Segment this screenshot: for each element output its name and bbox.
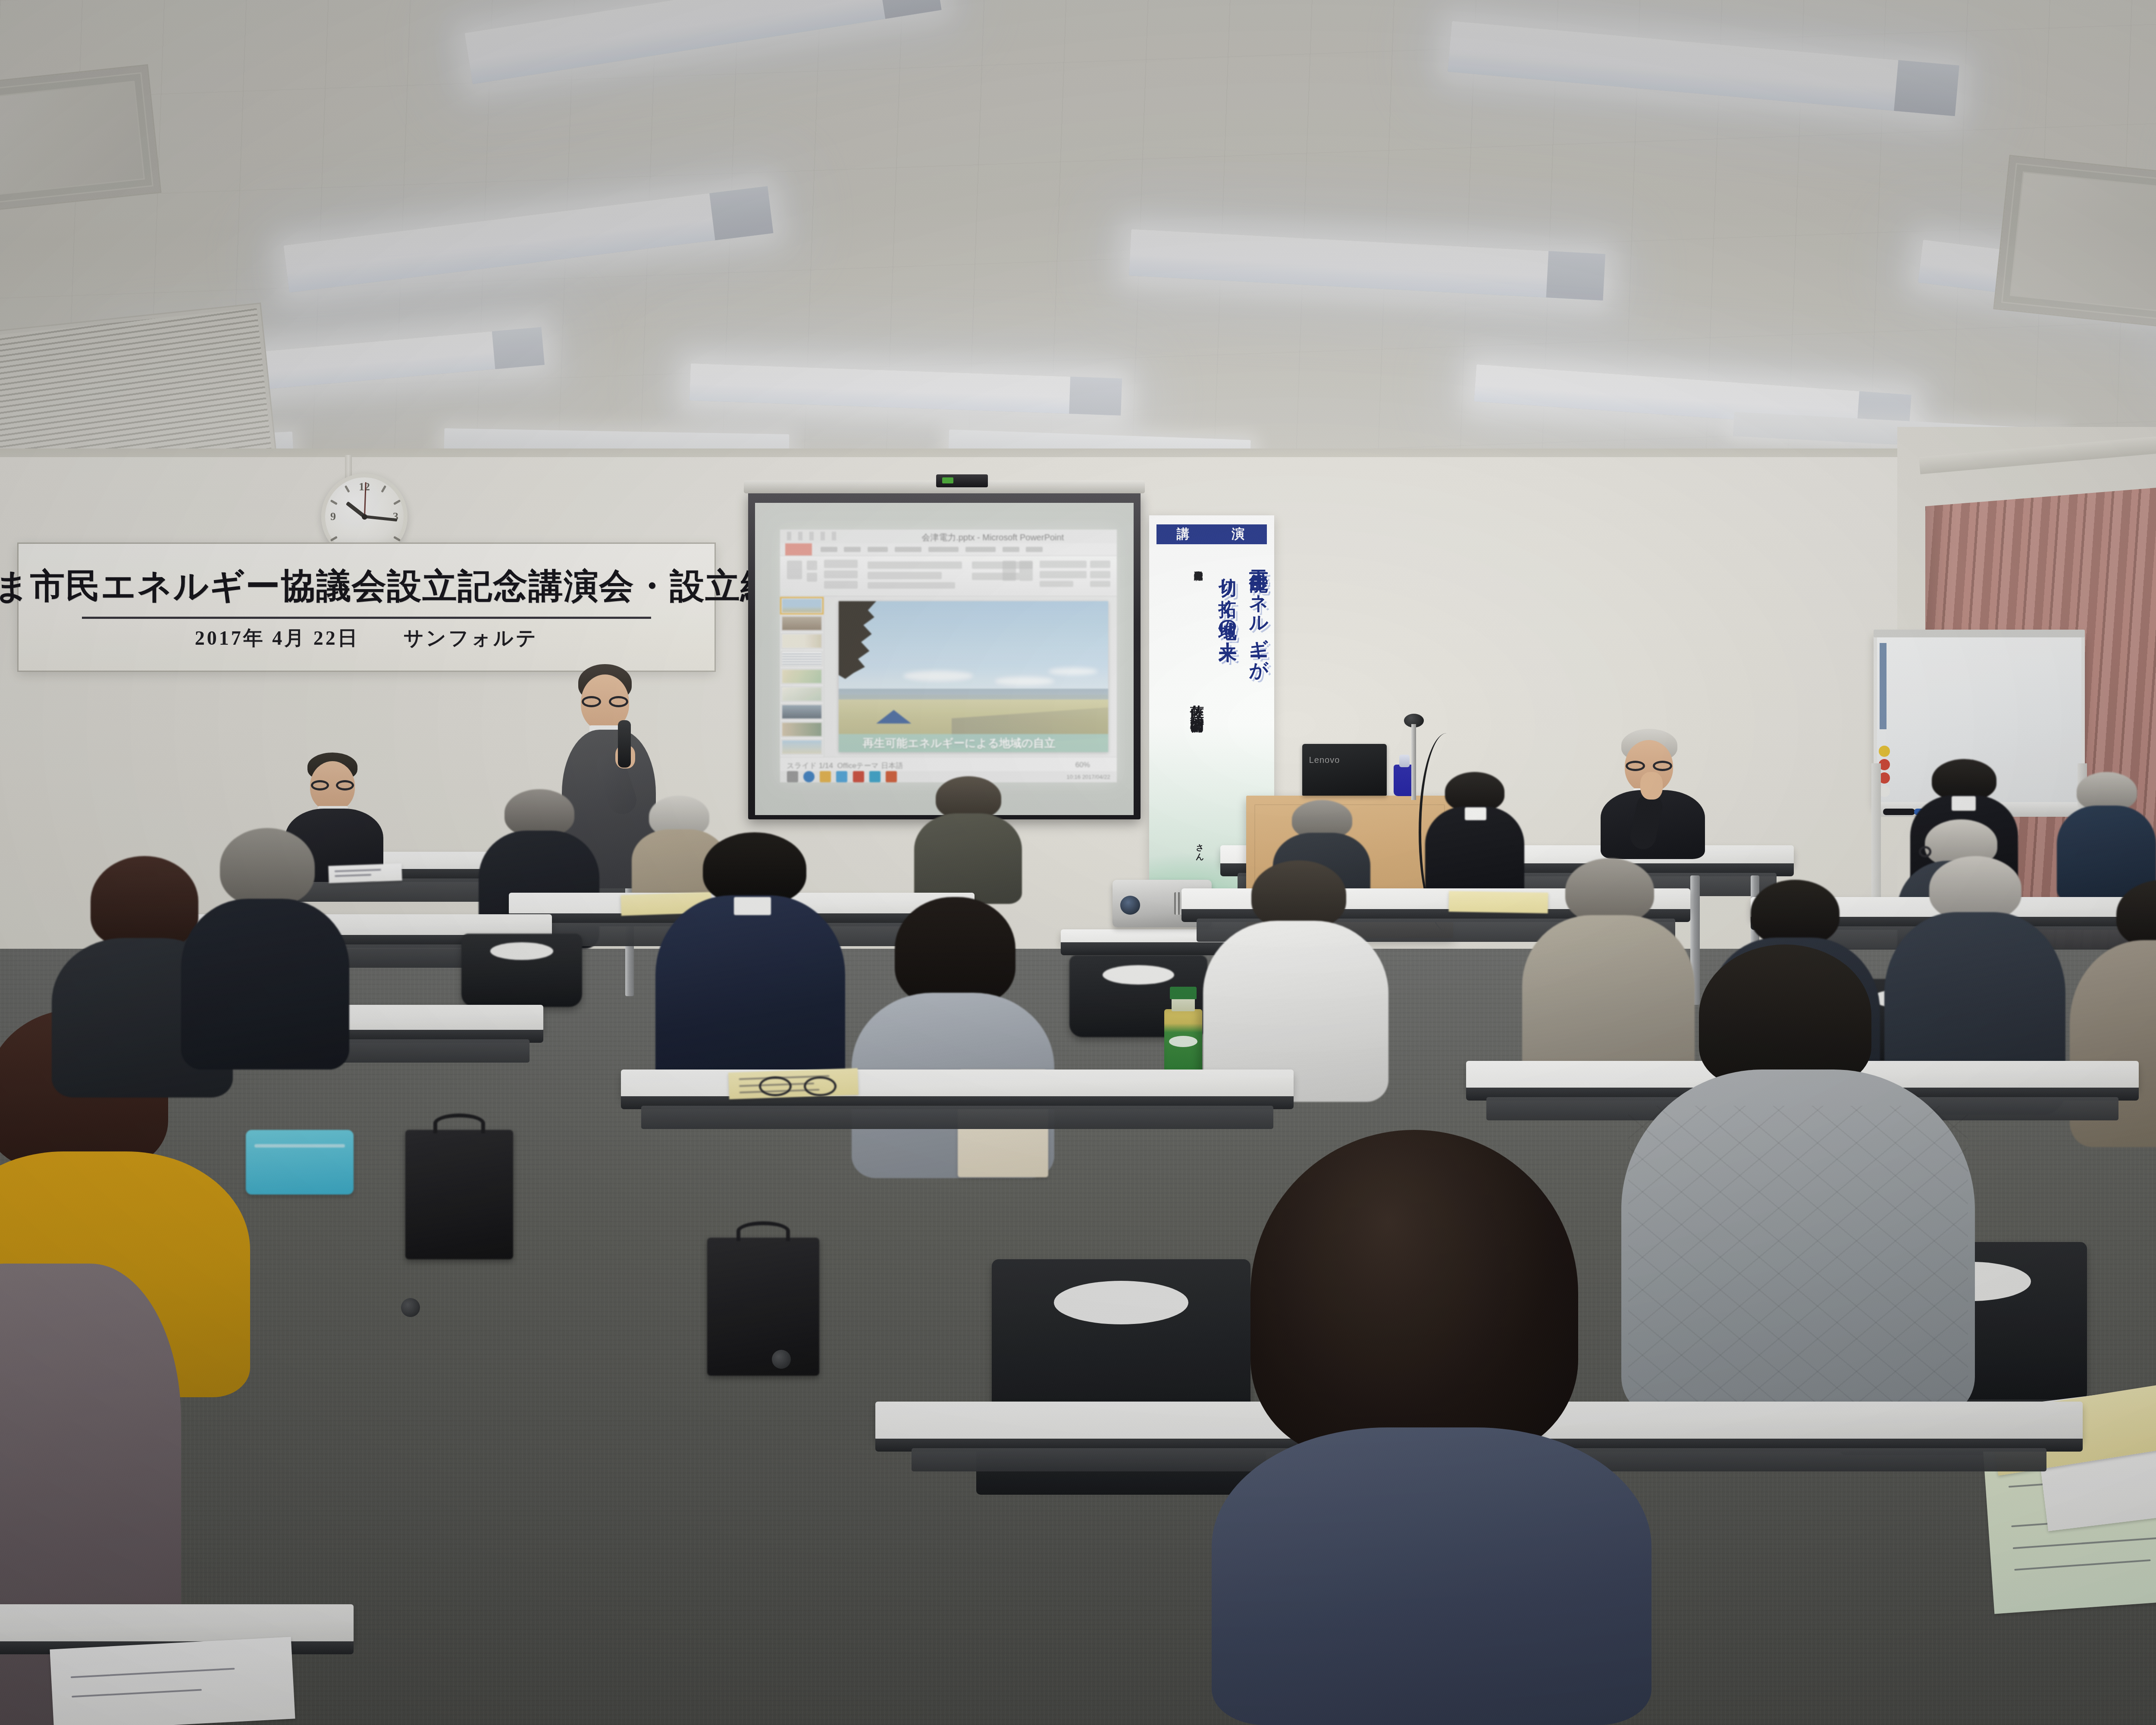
hair xyxy=(1929,856,2021,921)
attendee xyxy=(1203,860,1388,1102)
attendee-foreground-woman xyxy=(1212,1130,1651,1725)
ppt-thumbnail[interactable] xyxy=(781,598,822,613)
ppt-ribbon-tabs[interactable] xyxy=(780,543,1117,556)
projection-screen-frame: 会津電力.pptx - Microsoft PowerPoint xyxy=(748,492,1141,819)
hair xyxy=(1251,860,1346,929)
edge-icon[interactable] xyxy=(803,771,815,782)
chair-caster xyxy=(772,1350,791,1369)
ppt-slide-thumbnails[interactable] xyxy=(780,596,824,757)
eyeglasses xyxy=(1626,761,1672,771)
powerpoint-icon[interactable] xyxy=(886,771,897,782)
hair xyxy=(1445,772,1504,812)
hair xyxy=(703,832,806,905)
event-banner: とやま市民エネルギー協議会設立記念講演会・設立総会 2017年 4月 22日 サ… xyxy=(17,543,716,672)
poster-headline-2: 切り拓く地域の未来！ xyxy=(1218,565,1237,876)
laptop[interactable]: Lenovo xyxy=(1302,744,1387,796)
ppt-titlebar: 会津電力.pptx - Microsoft PowerPoint xyxy=(780,530,1117,543)
hair xyxy=(1932,759,1996,800)
ppt-thumbnail[interactable] xyxy=(781,722,822,737)
ppt-status-bar: スライド 1/14 Officeテーマ 日本語 60% xyxy=(780,757,1117,771)
ppt-thumbnail[interactable] xyxy=(781,740,822,755)
taskbar-clock: 10:16 2017/04/22 xyxy=(1067,774,1110,780)
laptop-brand-label: Lenovo xyxy=(1309,755,1340,765)
poster-header-char-2: 演 xyxy=(1232,525,1247,543)
eyeglasses xyxy=(311,780,354,790)
desk-row-front-left xyxy=(0,1604,354,1643)
hair xyxy=(936,776,1001,819)
torso xyxy=(1212,1427,1651,1725)
pdf-icon[interactable] xyxy=(853,771,864,782)
ppt-thumbnail[interactable] xyxy=(781,669,822,684)
ppt-status-zoom[interactable]: 60% xyxy=(1075,761,1090,769)
hair xyxy=(220,828,315,906)
banner-title: とやま市民エネルギー協議会設立記念講演会・設立総会 xyxy=(0,563,812,610)
hair xyxy=(2077,772,2137,811)
clock-minute-hand xyxy=(364,515,397,522)
poster-header-band: 講 演 xyxy=(1156,524,1266,544)
hair xyxy=(1751,880,1839,945)
handbag xyxy=(707,1238,819,1376)
desk-row-near-a xyxy=(621,1069,1294,1098)
poster-speaker-name: 佐藤 彌右衛門 xyxy=(1190,694,1204,708)
attendee xyxy=(655,832,845,1091)
hand xyxy=(1640,772,1663,800)
powerpoint-window: 会津電力.pptx - Microsoft PowerPoint xyxy=(780,530,1117,782)
torso xyxy=(655,895,845,1094)
ppt-status-slide: スライド 1/14 xyxy=(787,761,833,771)
hair xyxy=(1250,1130,1578,1458)
attendee-grey-quilted xyxy=(1621,944,1975,1419)
ppt-thumbnail[interactable] xyxy=(781,616,822,631)
hair xyxy=(505,789,574,837)
eyeglasses-on-desk xyxy=(759,1076,837,1096)
banner-date-venue: 2017年 4月 22日 サンフォルテ xyxy=(195,625,538,652)
ppt-status-theme: Officeテーマ xyxy=(837,761,879,771)
magnet[interactable] xyxy=(1879,746,1890,757)
store-icon[interactable] xyxy=(836,771,847,782)
slide-caption-bar: 再生可能エネルギーによる地域の自立 xyxy=(839,734,1108,752)
hair xyxy=(895,897,1015,1005)
screen-roller xyxy=(744,480,1145,493)
explorer-icon[interactable] xyxy=(820,771,831,782)
ppt-current-slide: 再生可能エネルギーによる地域の自立 xyxy=(839,601,1108,752)
ppt-status-lang: 日本語 xyxy=(881,761,903,771)
chair[interactable] xyxy=(461,934,582,1007)
torso xyxy=(914,813,1022,904)
shirt-collar xyxy=(734,897,771,915)
torso xyxy=(1425,806,1524,901)
hvac-diffuser xyxy=(1993,155,2156,328)
hair xyxy=(1699,944,1871,1087)
start-icon[interactable] xyxy=(787,771,798,782)
browser-icon[interactable] xyxy=(869,771,881,782)
ppt-thumbnail[interactable] xyxy=(781,687,822,702)
poster-header-char-1: 講 xyxy=(1176,525,1191,543)
ppt-editor-body: 再生可能エネルギーによる地域の自立 xyxy=(780,596,1117,757)
clock-number-12: 12 xyxy=(359,480,370,493)
attendee xyxy=(1425,772,1524,901)
torso xyxy=(181,899,349,1069)
hair xyxy=(1565,858,1654,923)
screen-sensor-icon xyxy=(936,474,988,487)
handbag xyxy=(405,1130,513,1259)
ppt-thumbnail[interactable] xyxy=(781,634,822,649)
shirt-collar xyxy=(1465,807,1486,820)
seminar-room-photo: 12 3 6 9 とやま市民エネルギー協議会設立記念講演会・設立総会 2017年… xyxy=(0,0,2156,1725)
quilt-pattern xyxy=(1628,1106,1968,1409)
attendee xyxy=(852,897,1054,1173)
ppt-ribbon[interactable] xyxy=(780,556,1117,596)
attendee xyxy=(914,776,1022,901)
ppt-thumbnail[interactable] xyxy=(781,704,822,719)
handout xyxy=(50,1637,295,1725)
eyeglasses xyxy=(582,696,628,707)
shirt-collar xyxy=(1952,796,1976,811)
hvac-diffuser xyxy=(0,64,162,212)
projection-screen-surface: 会津電力.pptx - Microsoft PowerPoint xyxy=(755,503,1134,815)
clock-number-9: 9 xyxy=(330,510,336,523)
chair-caster xyxy=(401,1298,420,1317)
attendee xyxy=(181,828,349,1069)
handheld-microphone xyxy=(618,720,631,768)
ppt-document-title: 会津電力.pptx - Microsoft PowerPoint xyxy=(921,532,1064,543)
ppt-thumbnail[interactable] xyxy=(781,651,822,666)
hair xyxy=(2116,880,2156,949)
seated-official-gray-hair xyxy=(1601,729,1708,858)
pencil-pouch xyxy=(246,1130,354,1195)
poster-speaker-honorific: さん xyxy=(1196,838,1204,856)
slide-caption-text: 再生可能エネルギーによる地域の自立 xyxy=(839,736,1056,751)
ppt-slide-stage: 再生可能エネルギーによる地域の自立 xyxy=(824,596,1117,757)
